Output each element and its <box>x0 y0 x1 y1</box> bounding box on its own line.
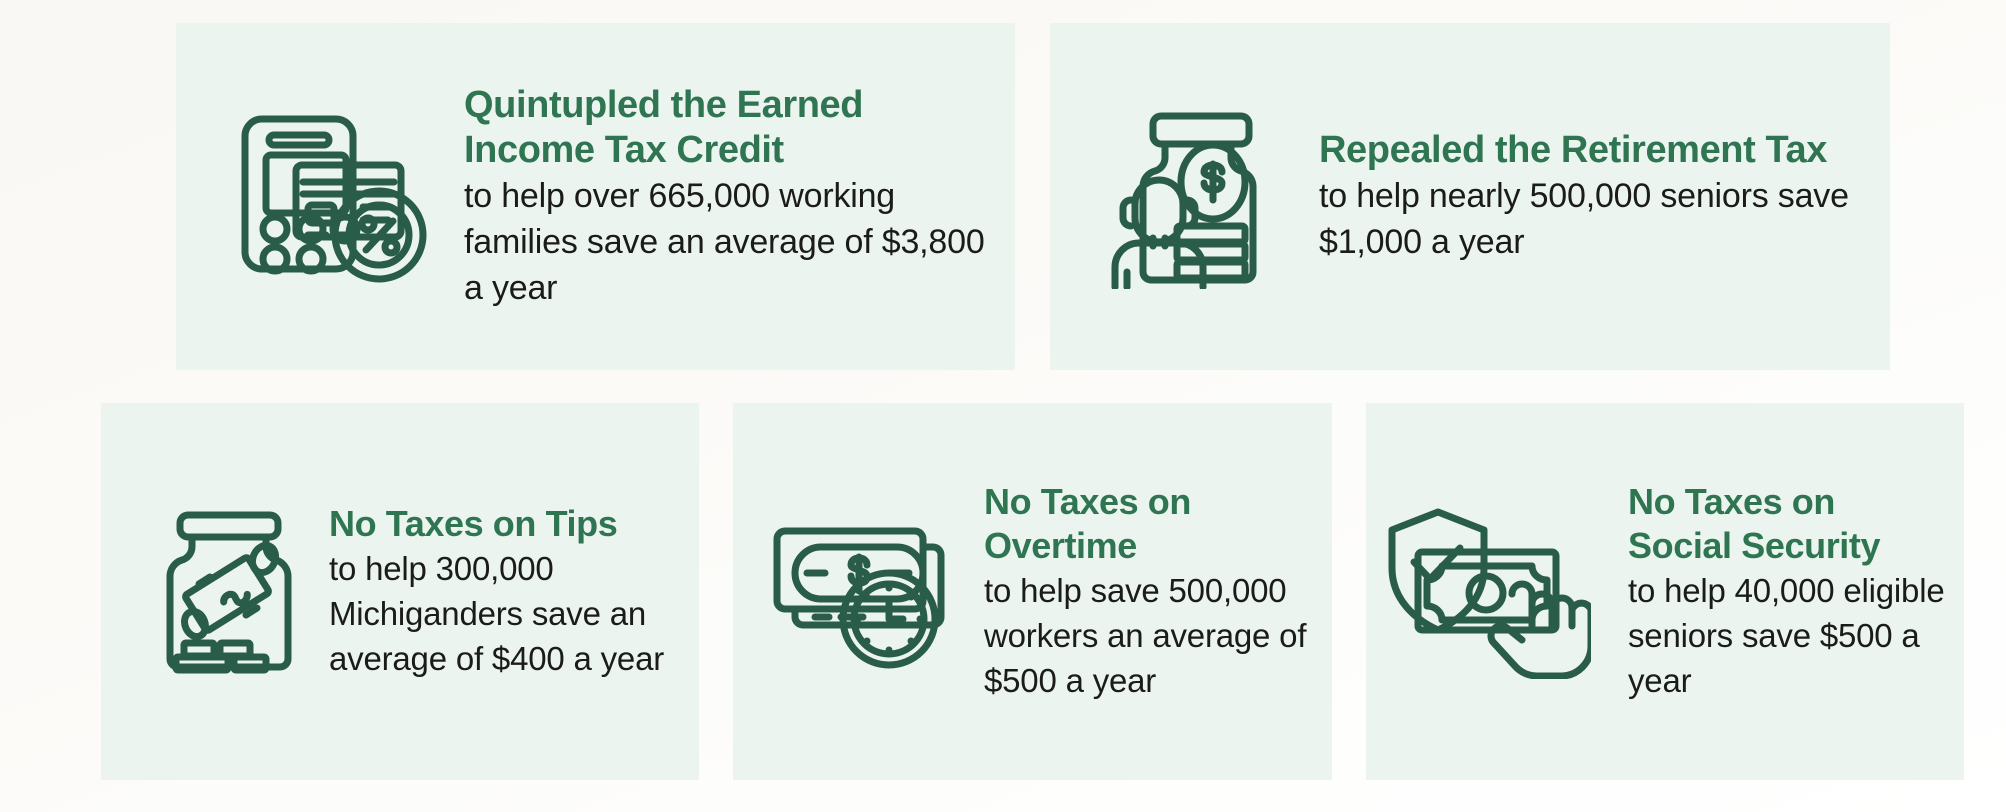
card-headline: No Taxes on Tips <box>329 502 677 546</box>
card-earned-income-tax-credit: Quintupled the Earned Income Tax Credit … <box>176 23 1015 370</box>
card-headline: Quintupled the Earned Income Tax Credit <box>464 83 989 173</box>
card-text-block: No Taxes on Social Security to help 40,0… <box>1628 480 1964 703</box>
infographic-board: Quintupled the Earned Income Tax Credit … <box>0 0 2006 812</box>
card-text-block: Quintupled the Earned Income Tax Credit … <box>464 83 1015 311</box>
money-clock-icon <box>755 509 960 674</box>
card-no-taxes-on-social-security: No Taxes on Social Security to help 40,0… <box>1366 403 1964 780</box>
card-text-block: No Taxes on Tips to help 300,000 Michiga… <box>329 502 699 681</box>
card-no-taxes-on-tips: No Taxes on Tips to help 300,000 Michiga… <box>101 403 699 780</box>
card-retirement-tax: Repealed the Retirement Tax to help near… <box>1050 23 1890 370</box>
card-text-block: No Taxes on Overtime to help save 500,00… <box>984 480 1332 703</box>
calculator-tax-percent-icon <box>218 107 448 287</box>
card-headline: No Taxes on Social Security <box>1628 480 1946 568</box>
card-body: to help nearly 500,000 seniors save $1,0… <box>1319 173 1864 265</box>
senior-savings-jar-icon <box>1096 104 1301 289</box>
card-no-taxes-on-overtime: No Taxes on Overtime to help save 500,00… <box>733 403 1332 780</box>
shield-check-money-hand-icon <box>1378 504 1598 679</box>
tip-jar-icon <box>149 507 309 677</box>
card-text-block: Repealed the Retirement Tax to help near… <box>1319 128 1890 265</box>
card-body: to help 40,000 eligible seniors save $50… <box>1628 568 1946 703</box>
card-headline: No Taxes on Overtime <box>984 480 1310 568</box>
card-body: to help save 500,000 workers an average … <box>984 568 1310 703</box>
card-headline: Repealed the Retirement Tax <box>1319 128 1864 173</box>
card-body: to help over 665,000 working families sa… <box>464 173 989 311</box>
card-body: to help 300,000 Michiganders save an ave… <box>329 546 677 681</box>
